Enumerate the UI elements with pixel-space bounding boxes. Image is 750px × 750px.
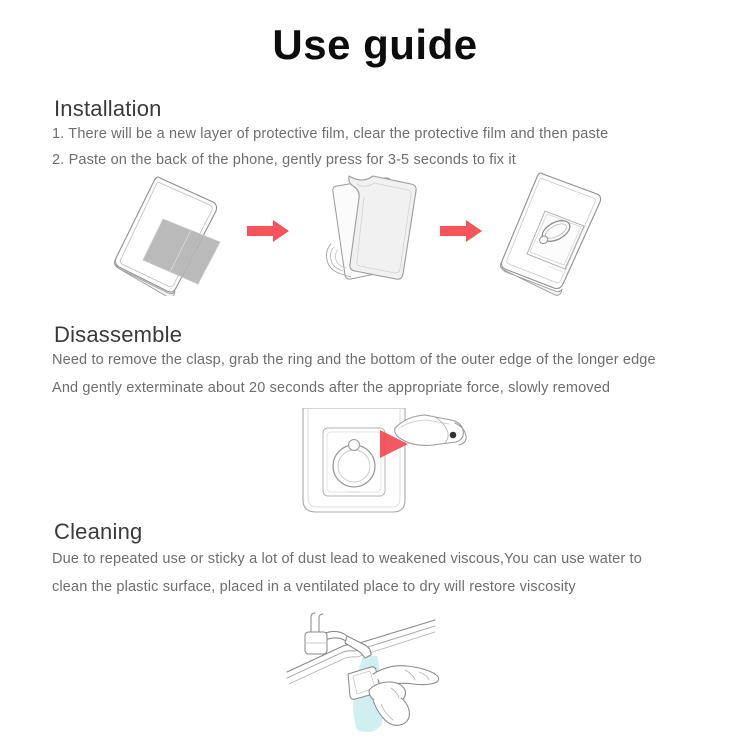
cleaning-line-1: Due to repeated use or sticky a lot of d… (52, 549, 642, 569)
installation-line-1: 1. There will be a new layer of protecti… (52, 124, 608, 144)
arrow-right-1 (247, 220, 289, 242)
cleaning-line-2: clean the plastic surface, placed in a v… (52, 577, 576, 597)
use-guide-page: Use guide Installation 1. There will be … (0, 0, 750, 750)
section-heading-installation: Installation (54, 96, 162, 122)
arrow-right-2 (440, 220, 482, 242)
installation-line-2: 2. Paste on the back of the phone, gentl… (52, 150, 516, 170)
disassemble-line-1: Need to remove the clasp, grab the ring … (52, 350, 656, 370)
phone-with-protective-film (114, 177, 220, 296)
cleaning-illustration (0, 612, 750, 744)
page-title: Use guide (0, 18, 750, 72)
installation-illustration-svg (95, 168, 655, 296)
section-heading-disassemble: Disassemble (54, 322, 182, 348)
peeling-film-off-phone (327, 176, 417, 279)
phone-with-ring-holder-attached (500, 173, 600, 295)
disassemble-illustration-svg (275, 408, 475, 514)
disassemble-illustration (0, 408, 750, 514)
disassemble-line-2: And gently exterminate about 20 seconds … (52, 378, 610, 398)
phone-back-with-ring-holder (303, 408, 405, 512)
installation-steps-illustration (0, 168, 750, 296)
cleaning-illustration-svg (285, 612, 465, 744)
section-heading-cleaning: Cleaning (54, 519, 142, 545)
